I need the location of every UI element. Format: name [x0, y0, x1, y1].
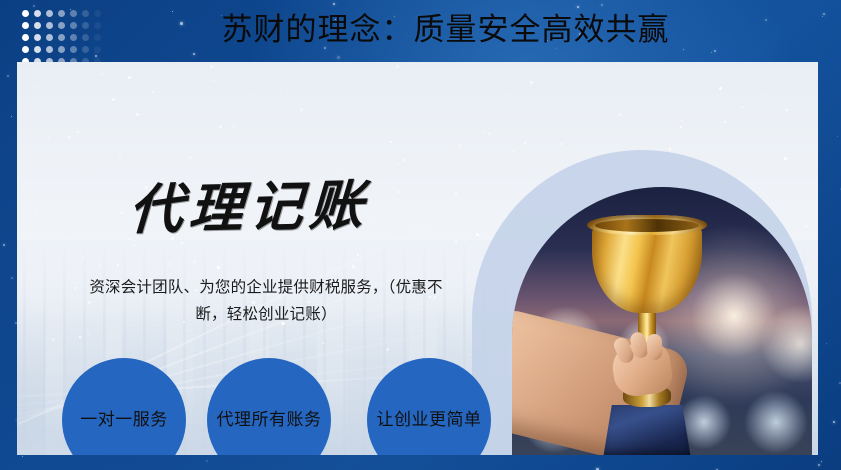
page-title: 苏财的理念：质量安全高效共赢: [0, 6, 841, 54]
card-description: 资深会计团队、为您的企业提供财税服务，（优惠不断，轻松创业记账）: [77, 274, 455, 328]
feature-circle-3-label: 让创业更简单: [377, 409, 482, 431]
feature-circle-1-label: 一对一服务: [80, 409, 168, 431]
trophy-base: [603, 405, 691, 455]
content-card: 代理记账 资深会计团队、为您的企业提供财税服务，（优惠不断，轻松创业记账） 一对…: [17, 62, 818, 455]
hand-shape: [610, 339, 675, 399]
trophy-inner-rim: [595, 219, 699, 232]
slide-root: 苏财的理念：质量安全高效共赢: [0, 0, 841, 470]
trophy-bowl: [592, 227, 702, 313]
feature-circle-2-label: 代理所有账务: [217, 409, 322, 431]
card-heading: 代理记账: [127, 171, 371, 244]
finger-3: [647, 334, 663, 361]
